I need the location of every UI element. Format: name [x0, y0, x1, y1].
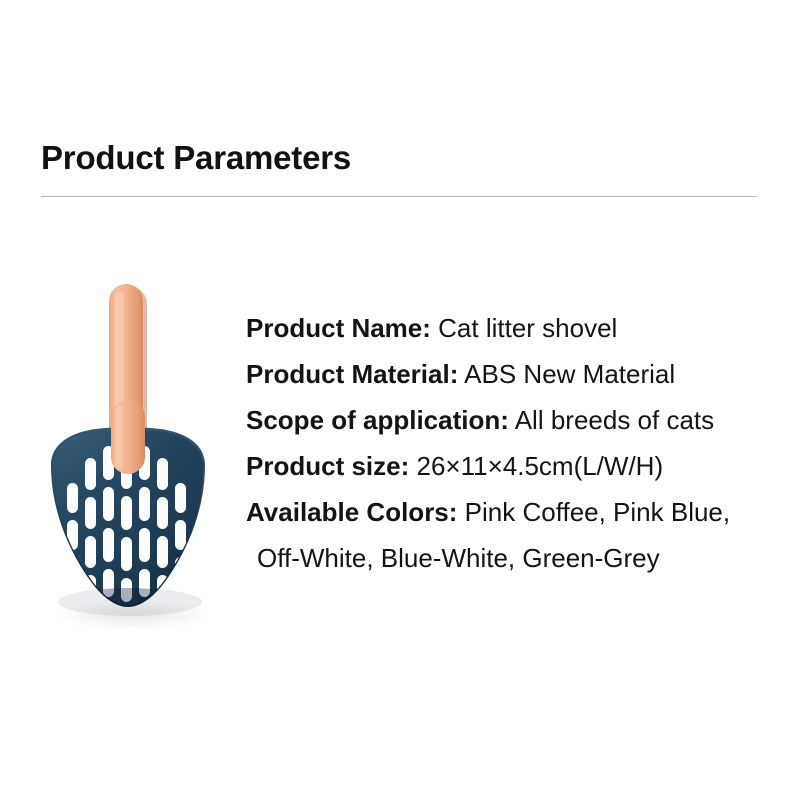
spec-label: Product Name: [246, 313, 431, 343]
spec-label: Product Material: [246, 359, 458, 389]
product-parameters-page: Product Parameters [0, 0, 800, 800]
cat-litter-shovel-illustration [20, 250, 235, 650]
product-image [20, 250, 235, 650]
spec-value: All breeds of cats [515, 405, 714, 435]
spec-value-continuation: Off-White, Blue-White, Green-Grey [246, 535, 786, 581]
spec-value: Pink Coffee, Pink Blue, [465, 497, 730, 527]
spec-label: Available Colors: [246, 497, 457, 527]
title-divider [41, 196, 757, 197]
spec-value: 26×11×4.5cm(L/W/H) [416, 451, 663, 481]
spec-row-scope-of-application: Scope of application: All breeds of cats [246, 397, 786, 443]
spec-label: Product size: [246, 451, 409, 481]
page-title: Product Parameters [41, 136, 351, 180]
spec-row-product-size: Product size: 26×11×4.5cm(L/W/H) [246, 443, 786, 489]
spec-value: ABS New Material [464, 359, 675, 389]
spec-list: Product Name: Cat litter shovel Product … [246, 305, 786, 581]
spec-row-available-colors: Available Colors: Pink Coffee, Pink Blue… [246, 489, 786, 535]
spec-label: Scope of application: [246, 405, 509, 435]
spec-value: Cat litter shovel [438, 313, 617, 343]
spec-row-product-name: Product Name: Cat litter shovel [246, 305, 786, 351]
spec-row-product-material: Product Material: ABS New Material [246, 351, 786, 397]
